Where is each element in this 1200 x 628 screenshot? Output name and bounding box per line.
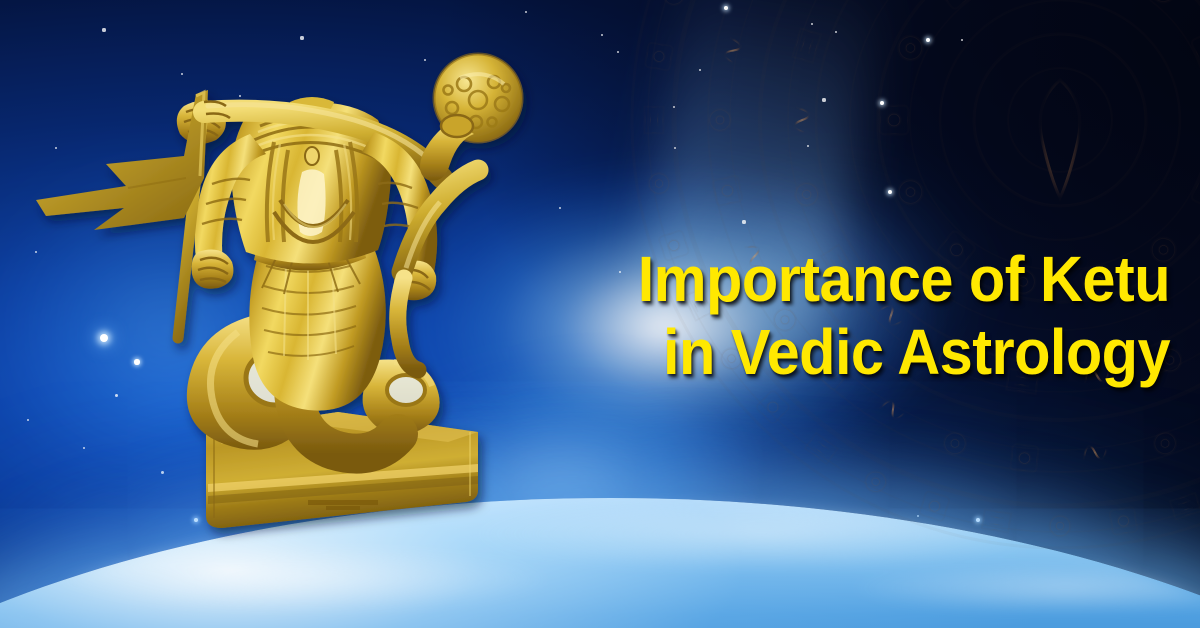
title-line-1: Importance of Ketu [566, 248, 1171, 311]
star [601, 34, 603, 36]
ketu-idol-figure [8, 60, 528, 580]
page-title: Importance of Ketu in Vedic Astrology [566, 248, 1171, 383]
star [300, 36, 303, 39]
banner-root: Importance of Ketu in Vedic Astrology [0, 0, 1200, 628]
star [525, 11, 527, 13]
title-line-2: in Vedic Astrology [566, 311, 1171, 384]
star [102, 28, 105, 31]
